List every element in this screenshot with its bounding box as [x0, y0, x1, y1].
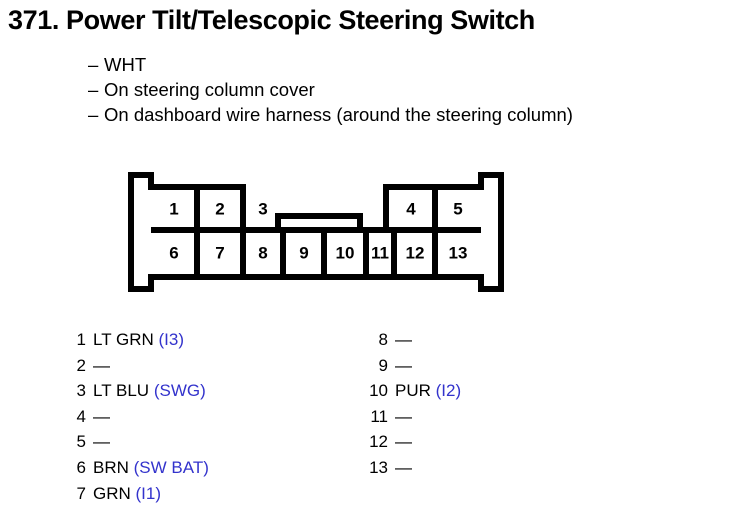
connector-diagram: 1 2 3 4 5 6 7 8 9 10 11 12 13: [128, 172, 504, 292]
pin-signal-name: (SW BAT): [134, 458, 209, 477]
note-text: On dashboard wire harness (around the st…: [104, 104, 573, 125]
pin-list-item: 12—: [362, 429, 461, 455]
connector-pin-5: 5: [453, 199, 462, 218]
pin-list-item: 2—: [60, 353, 209, 379]
pin-index: 11: [362, 404, 388, 430]
connector-pin-8: 8: [258, 243, 267, 262]
pin-wire-color: GRN: [93, 484, 131, 503]
pin-index: 9: [362, 353, 388, 379]
pin-wire-color: LT BLU: [93, 381, 149, 400]
pin-wire-color: —: [395, 432, 412, 451]
pin-list-item: 9—: [362, 353, 461, 379]
pin-list-item: 13—: [362, 455, 461, 481]
note-dash-icon: –: [88, 77, 104, 102]
pin-index: 13: [362, 455, 388, 481]
pin-index: 1: [60, 327, 86, 353]
pin-wire-color: —: [93, 407, 110, 426]
connector-pin-13: 13: [449, 243, 468, 262]
pin-wire-color: —: [395, 458, 412, 477]
pin-wire-color: —: [395, 407, 412, 426]
note-item: –WHT: [88, 52, 573, 77]
connector-pin-3: 3: [258, 199, 267, 218]
page-title: 371. Power Tilt/Telescopic Steering Swit…: [8, 4, 535, 36]
note-text: WHT: [104, 54, 146, 75]
pin-index: 7: [60, 481, 86, 507]
pin-index: 5: [60, 429, 86, 455]
pin-list-item: 10PUR (I2): [362, 378, 461, 404]
note-dash-icon: –: [88, 102, 104, 127]
pin-wire-color: BRN: [93, 458, 129, 477]
connector-pin-12: 12: [406, 243, 425, 262]
pin-signal-name: (I3): [159, 330, 185, 349]
pin-signal-name: (SWG): [154, 381, 206, 400]
note-item: –On steering column cover: [88, 77, 573, 102]
pin-index: 2: [60, 353, 86, 379]
connector-pin-9: 9: [299, 243, 308, 262]
pin-index: 6: [60, 455, 86, 481]
pin-list-item: 7GRN (I1): [60, 481, 209, 507]
connector-pin-2: 2: [215, 199, 224, 218]
pin-wire-color: —: [93, 432, 110, 451]
pin-signal-name: (I2): [436, 381, 462, 400]
pin-list-item: 3LT BLU (SWG): [60, 378, 209, 404]
pin-wire-color: PUR: [395, 381, 431, 400]
pin-wire-color: —: [395, 330, 412, 349]
note-dash-icon: –: [88, 52, 104, 77]
connector-pin-1: 1: [169, 199, 178, 218]
pin-index: 10: [362, 378, 388, 404]
note-item: –On dashboard wire harness (around the s…: [88, 102, 573, 127]
pin-list-item: 5—: [60, 429, 209, 455]
pin-wire-color: —: [93, 356, 110, 375]
pin-index: 8: [362, 327, 388, 353]
pin-signal-name: (I1): [136, 484, 162, 503]
connector-pin-6: 6: [169, 243, 178, 262]
connector-pin-11: 11: [371, 243, 389, 262]
pin-list-item: 11—: [362, 404, 461, 430]
pin-list-item: 6BRN (SW BAT): [60, 455, 209, 481]
pin-list-item: 1LT GRN (I3): [60, 327, 209, 353]
connector-svg: 1 2 3 4 5 6 7 8 9 10 11 12 13: [128, 172, 504, 292]
pin-list-left: 1LT GRN (I3) 2— 3LT BLU (SWG) 4— 5— 6BRN…: [60, 327, 209, 506]
connector-pin-7: 7: [215, 243, 224, 262]
note-text: On steering column cover: [104, 79, 315, 100]
pin-list-item: 4—: [60, 404, 209, 430]
pin-list-right: 8— 9— 10PUR (I2) 11— 12— 13—: [362, 327, 461, 481]
connector-pin-10: 10: [336, 243, 355, 262]
notes-list: –WHT –On steering column cover –On dashb…: [88, 52, 573, 127]
pin-wire-color: LT GRN: [93, 330, 154, 349]
pin-index: 12: [362, 429, 388, 455]
pin-index: 3: [60, 378, 86, 404]
connector-pin-4: 4: [406, 199, 416, 218]
pin-wire-color: —: [395, 356, 412, 375]
pin-list-item: 8—: [362, 327, 461, 353]
pin-index: 4: [60, 404, 86, 430]
